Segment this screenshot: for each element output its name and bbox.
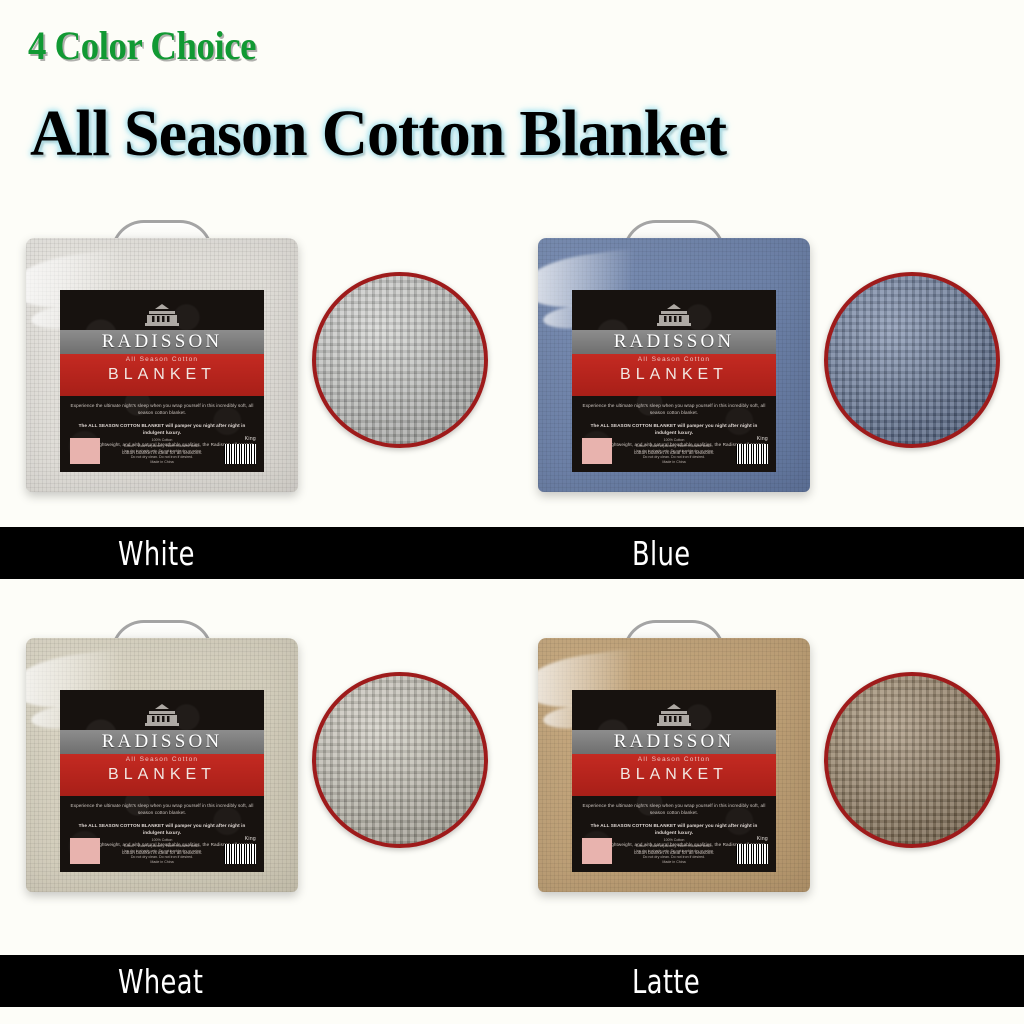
color-name-blue: Blue [632,527,691,579]
product-label: RADISSON All Season Cotton BLANKET Exper… [60,290,264,472]
crest-logo-icon [651,304,697,326]
label-subtitle: All Season Cotton [572,356,776,363]
product-cell-wheat[interactable]: RADISSON All Season Cotton BLANKET Exper… [0,600,512,927]
label-color-chip [582,838,612,864]
color-name-bar-top: White Blue [0,527,1024,579]
label-subtitle: All Season Cotton [60,756,264,763]
label-care-instructions: 100% Cotton Cotton - Wash separately. Wa… [625,438,723,466]
label-care-instructions: 100% Cotton Cotton - Wash separately. Wa… [113,438,211,466]
label-copy-1: Experience the ultimate night's sleep wh… [582,402,766,417]
label-copy-1: Experience the ultimate night's sleep wh… [70,402,254,417]
swatch-shading [316,276,484,444]
product-label: RADISSON All Season Cotton BLANKET Exper… [572,290,776,472]
care-5: Made in China [113,860,211,866]
color-name-white: White [118,527,195,579]
label-copy-2: The ALL SEASON COTTON BLANKET will pampe… [70,822,254,837]
label-copy-1: Experience the ultimate night's sleep wh… [582,802,766,817]
swatch-shading [828,276,996,444]
fabric-swatch-blue [824,272,1000,448]
label-size: King [245,836,256,842]
label-size: King [757,436,768,442]
product-row-top: RADISSON All Season Cotton BLANKET Exper… [0,200,1024,527]
color-name-latte: Latte [632,955,700,1007]
label-subtitle: All Season Cotton [60,356,264,363]
package-latte: RADISSON All Season Cotton BLANKET Exper… [538,620,810,892]
label-size: King [245,436,256,442]
product-cell-blue[interactable]: RADISSON All Season Cotton BLANKET Exper… [512,200,1024,527]
label-color-chip [70,438,100,464]
color-name-wheat: Wheat [118,955,203,1007]
product-listing-image: 4 Color Choice All Season Cotton Blanket [0,0,1024,1024]
package-blue: RADISSON All Season Cotton BLANKET Exper… [538,220,810,492]
label-subtitle: All Season Cotton [572,756,776,763]
product-cell-white[interactable]: RADISSON All Season Cotton BLANKET Exper… [0,200,512,527]
label-care-instructions: 100% Cotton Cotton - Wash separately. Wa… [625,838,723,866]
crest-logo-icon [139,704,185,726]
crest-logo-icon [651,704,697,726]
page-title: All Season Cotton Blanket [30,96,726,172]
label-color-chip [582,438,612,464]
care-5: Made in China [625,460,723,466]
fabric-swatch-latte [824,672,1000,848]
label-product-name: BLANKET [60,766,264,784]
product-cell-latte[interactable]: RADISSON All Season Cotton BLANKET Exper… [512,600,1024,927]
care-5: Made in China [113,460,211,466]
label-copy-2: The ALL SEASON COTTON BLANKET will pampe… [582,822,766,837]
package-body: RADISSON All Season Cotton BLANKET Exper… [538,638,810,892]
label-copy-2: The ALL SEASON COTTON BLANKET will pampe… [582,422,766,437]
fabric-swatch-white [312,272,488,448]
label-product-name: BLANKET [572,766,776,784]
swatch-shading [828,676,996,844]
label-product-name: BLANKET [572,366,776,384]
product-label: RADISSON All Season Cotton BLANKET Exper… [60,690,264,872]
fabric-swatch-wheat [312,672,488,848]
label-copy-2: The ALL SEASON COTTON BLANKET will pampe… [70,422,254,437]
label-brand: RADISSON [60,730,264,754]
label-care-instructions: 100% Cotton Cotton - Wash separately. Wa… [113,838,211,866]
care-5: Made in China [625,860,723,866]
product-row-bottom: RADISSON All Season Cotton BLANKET Exper… [0,600,1024,927]
kicker-text: 4 Color Choice [28,22,256,69]
label-brand: RADISSON [572,730,776,754]
label-color-chip [70,838,100,864]
crest-logo-icon [139,304,185,326]
barcode-icon [736,444,768,464]
package-body: RADISSON All Season Cotton BLANKET Exper… [26,638,298,892]
package-white: RADISSON All Season Cotton BLANKET Exper… [26,220,298,492]
product-label: RADISSON All Season Cotton BLANKET Exper… [572,690,776,872]
swatch-shading [316,676,484,844]
label-copy-1: Experience the ultimate night's sleep wh… [70,802,254,817]
label-size: King [757,836,768,842]
label-brand: RADISSON [60,330,264,354]
package-body: RADISSON All Season Cotton BLANKET Exper… [538,238,810,492]
color-name-bar-bottom: Wheat Latte [0,955,1024,1007]
label-brand: RADISSON [572,330,776,354]
label-product-name: BLANKET [60,366,264,384]
barcode-icon [224,444,256,464]
barcode-icon [736,844,768,864]
barcode-icon [224,844,256,864]
package-body: RADISSON All Season Cotton BLANKET Exper… [26,238,298,492]
package-wheat: RADISSON All Season Cotton BLANKET Exper… [26,620,298,892]
